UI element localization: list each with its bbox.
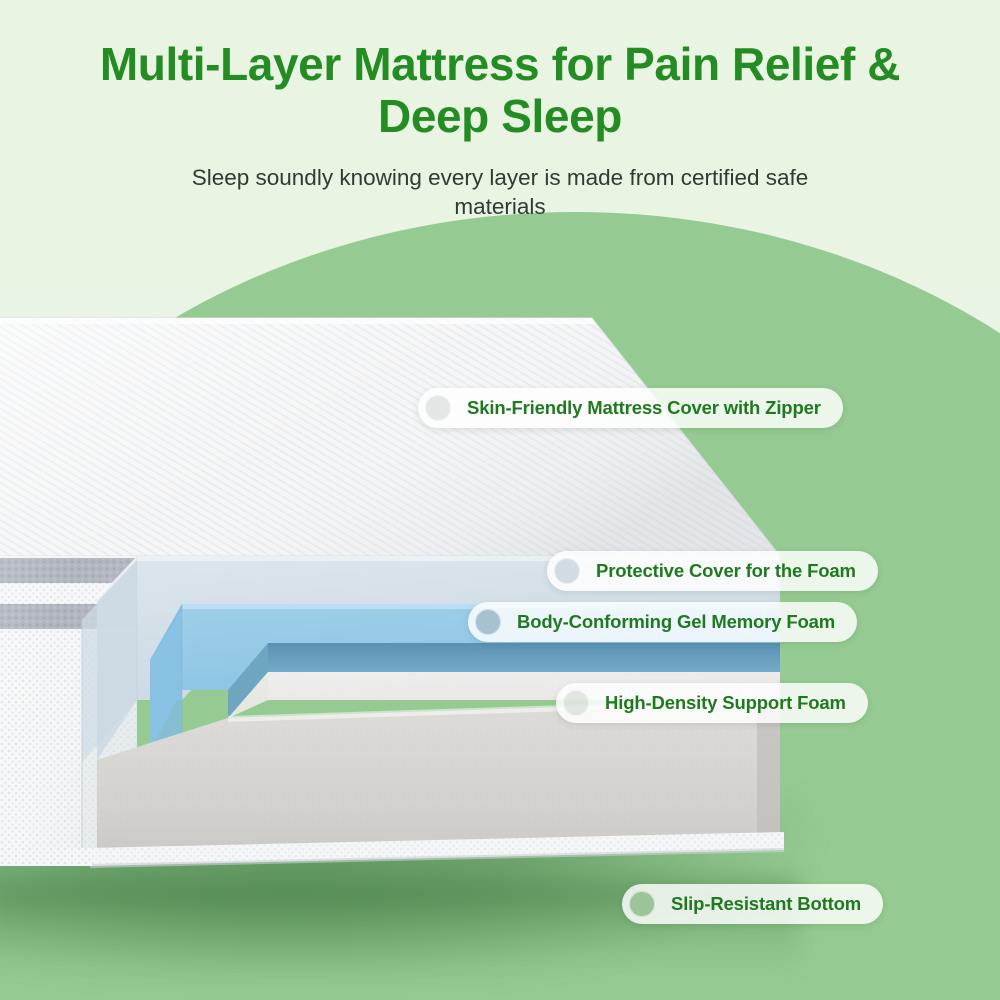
callout-gel-memory-foam[interactable]: Body-Conforming Gel Memory Foam <box>468 602 857 642</box>
callout-label: High-Density Support Foam <box>605 692 846 714</box>
callout-label: Protective Cover for the Foam <box>596 560 856 582</box>
marker-dot-icon <box>563 690 589 716</box>
layer-mattress-cover <box>0 318 780 556</box>
cover-side-bottom-edge <box>0 848 92 866</box>
callout-support-foam[interactable]: High-Density Support Foam <box>556 683 868 723</box>
callout-protective-cover[interactable]: Protective Cover for the Foam <box>547 551 878 591</box>
header-block: Multi-Layer Mattress for Pain Relief & D… <box>0 0 1000 221</box>
page-title: Multi-Layer Mattress for Pain Relief & D… <box>0 38 1000 143</box>
marker-dot-icon <box>425 395 451 421</box>
callout-label: Skin-Friendly Mattress Cover with Zipper <box>467 397 821 419</box>
callout-label: Slip-Resistant Bottom <box>671 893 861 915</box>
marker-dot-icon <box>554 558 580 584</box>
page-subtitle: Sleep soundly knowing every layer is mad… <box>0 163 1000 222</box>
callout-skin-friendly-cover[interactable]: Skin-Friendly Mattress Cover with Zipper <box>418 388 843 428</box>
marker-dot-icon <box>629 891 655 917</box>
infographic-canvas: Multi-Layer Mattress for Pain Relief & D… <box>0 0 1000 1000</box>
callout-slip-resistant-bottom[interactable]: Slip-Resistant Bottom <box>622 884 883 924</box>
marker-dot-icon <box>475 609 501 635</box>
callout-label: Body-Conforming Gel Memory Foam <box>517 611 835 633</box>
